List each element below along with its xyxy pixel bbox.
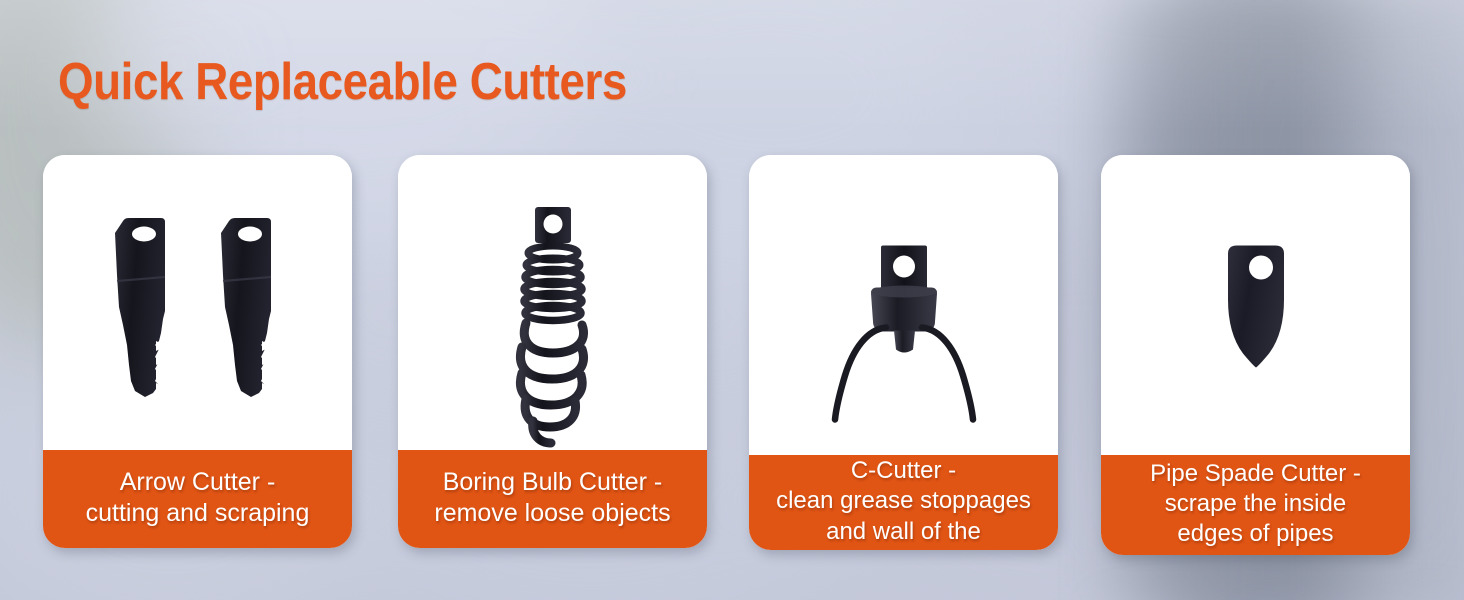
product-card-c-cutter[interactable]: C-Cutter - clean grease stoppages and wa… (749, 155, 1058, 550)
product-image-c-cutter (749, 155, 1058, 455)
product-caption-pipe-spade-cutter: Pipe Spade Cutter - scrape the inside ed… (1101, 455, 1410, 555)
product-caption-arrow-cutter: Arrow Cutter - cutting and scraping (43, 450, 352, 548)
product-card-pipe-spade-cutter[interactable]: Pipe Spade Cutter - scrape the inside ed… (1101, 155, 1410, 555)
product-card-arrow-cutter[interactable]: Arrow Cutter - cutting and scraping (43, 155, 352, 548)
product-caption-boring-bulb-cutter: Boring Bulb Cutter - remove loose object… (398, 450, 707, 548)
product-caption-c-cutter: C-Cutter - clean grease stoppages and wa… (749, 455, 1058, 550)
boring-bulb-spring-cutter-icon (398, 155, 707, 450)
product-image-arrow-cutter (43, 155, 352, 450)
pipe-spade-cutter-icon (1101, 155, 1410, 455)
product-image-pipe-spade-cutter (1101, 155, 1410, 455)
c-cutter-claw-icon (749, 155, 1058, 455)
page-title: Quick Replaceable Cutters (58, 52, 627, 112)
product-card-boring-bulb-cutter[interactable]: Boring Bulb Cutter - remove loose object… (398, 155, 707, 548)
infographic-banner: Quick Replaceable Cutters (0, 0, 1464, 600)
arrow-cutter-blades-icon (43, 155, 352, 450)
product-image-boring-bulb-cutter (398, 155, 707, 450)
